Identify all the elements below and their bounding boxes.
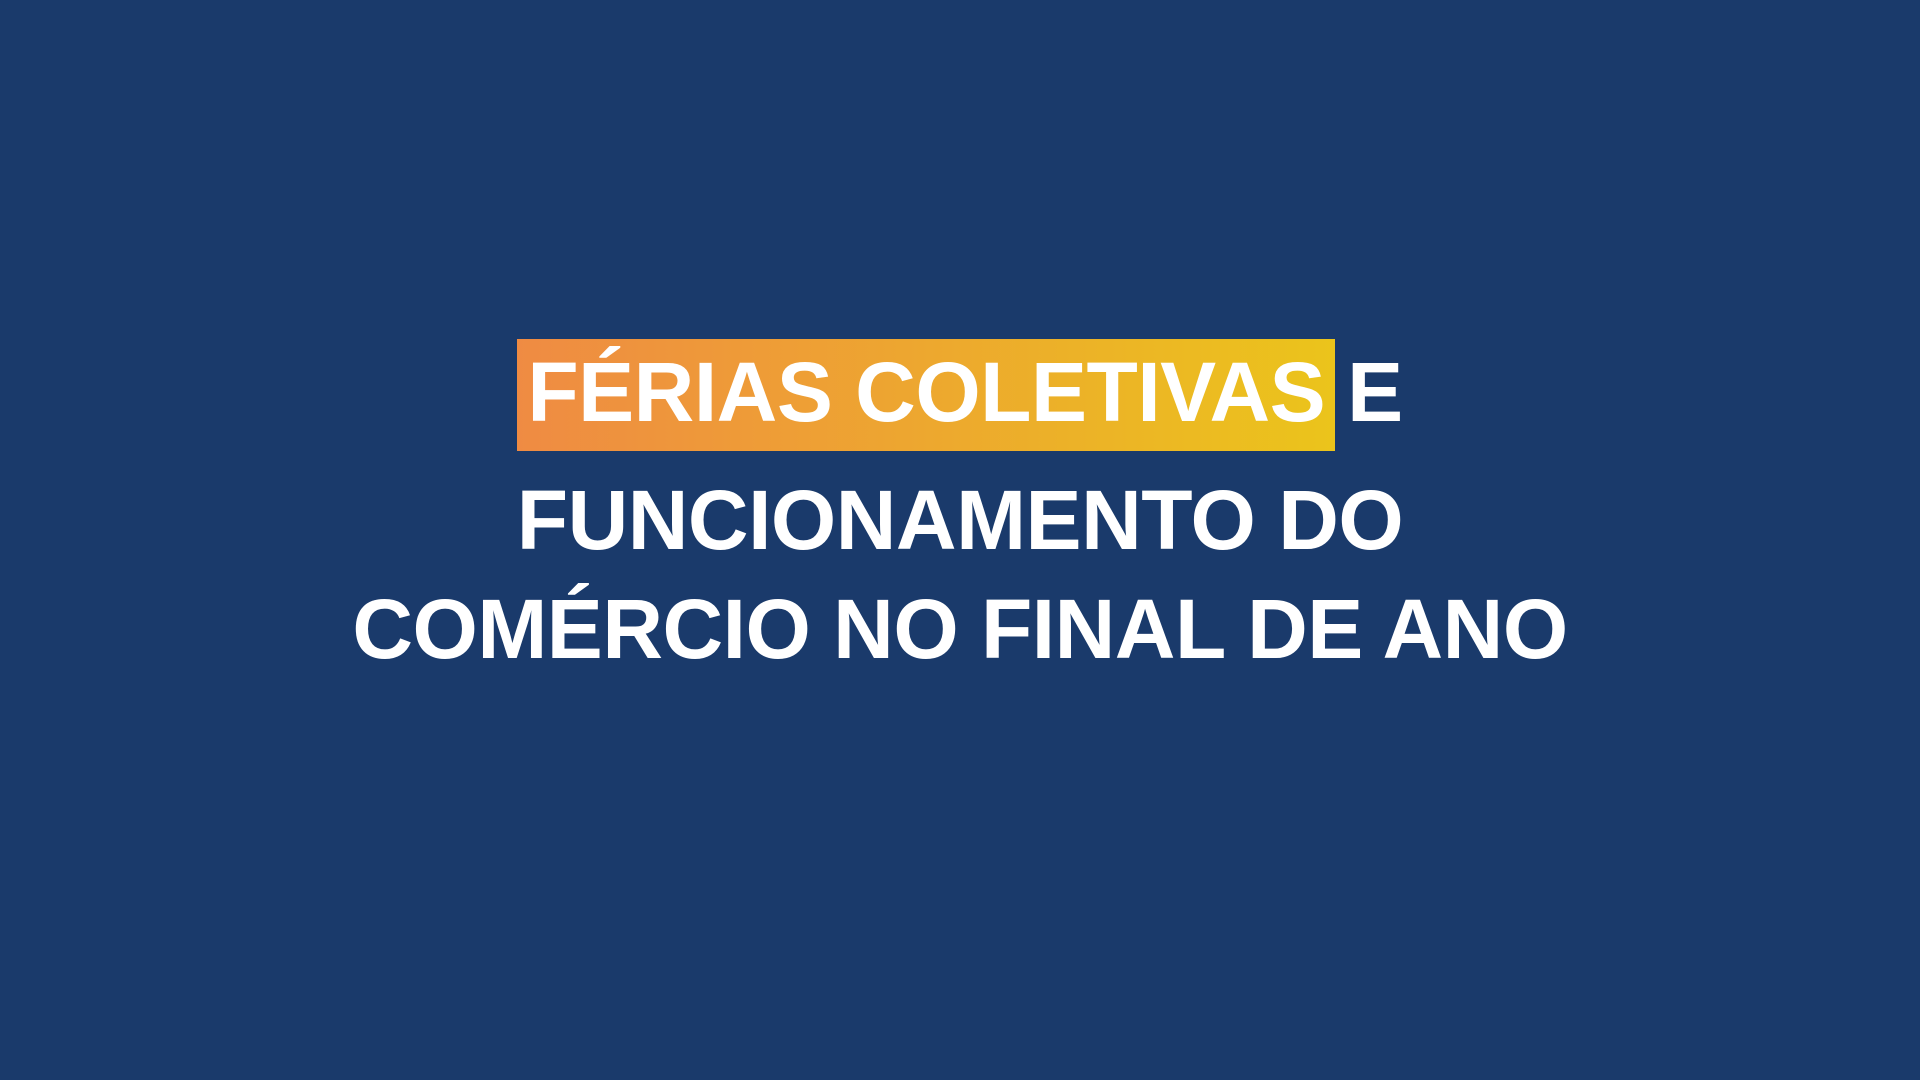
title-slide-canvas: FÉRIAS COLETIVASE FUNCIONAMENTO DO COMÉR… bbox=[0, 0, 1920, 1080]
headline-highlight-ferias-coletivas: FÉRIAS COLETIVAS bbox=[517, 339, 1335, 451]
headline-line-1: FÉRIAS COLETIVASE bbox=[230, 338, 1690, 451]
headline-trailing-conjunction: E bbox=[1335, 353, 1403, 433]
headline-block: FÉRIAS COLETIVASE FUNCIONAMENTO DO COMÉR… bbox=[230, 338, 1690, 678]
headline-line-3: COMÉRCIO NO FINAL DE ANO bbox=[230, 582, 1690, 678]
headline-line-2: FUNCIONAMENTO DO bbox=[230, 473, 1690, 569]
